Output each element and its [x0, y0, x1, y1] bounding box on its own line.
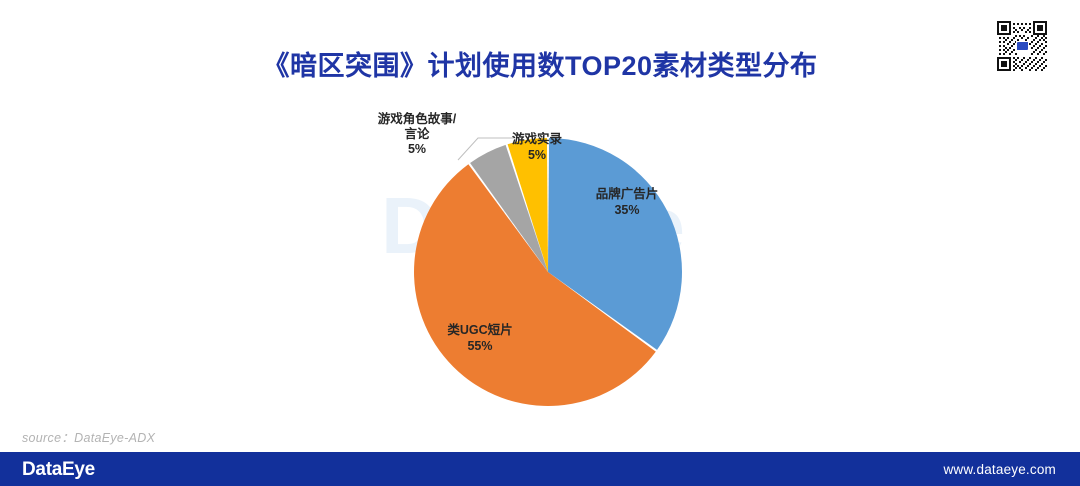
pie-label-story-value: 5%: [365, 142, 469, 157]
pie-label-story-name-line2: 言论: [365, 127, 469, 142]
pie-label-brand-name: 品牌广告片: [596, 187, 659, 201]
pie-label-gamerecord-value: 5%: [495, 147, 579, 163]
pie-label-story: 游戏角色故事/ 言论 5%: [365, 112, 469, 157]
pie-label-ugc-value: 55%: [420, 338, 540, 354]
pie-label-gamerecord: 游戏实录 5%: [495, 131, 579, 163]
pie-label-brand-value: 35%: [572, 202, 682, 218]
pie-chart: [400, 136, 696, 410]
pie-chart-svg: [400, 136, 696, 410]
pie-label-brand: 品牌广告片 35%: [572, 186, 682, 218]
footer-bar: [0, 452, 1080, 486]
slide-canvas: 《暗区突围》计划使用数TOP20素材类型分布 DataEye 品牌广告片 35%…: [0, 0, 1080, 486]
pie-label-gamerecord-name: 游戏实录: [512, 132, 562, 146]
pie-label-story-name-line1: 游戏角色故事/: [365, 112, 469, 127]
page-title: 《暗区突围》计划使用数TOP20素材类型分布: [0, 44, 1080, 83]
source-note: source：DataEye-ADX: [22, 427, 155, 446]
dataeye-logo: DataEye: [22, 459, 95, 481]
footer-website-url[interactable]: www.dataeye.com: [943, 462, 1056, 477]
pie-label-ugc-name: 类UGC短片: [447, 323, 512, 337]
pie-label-ugc: 类UGC短片 55%: [420, 322, 540, 354]
